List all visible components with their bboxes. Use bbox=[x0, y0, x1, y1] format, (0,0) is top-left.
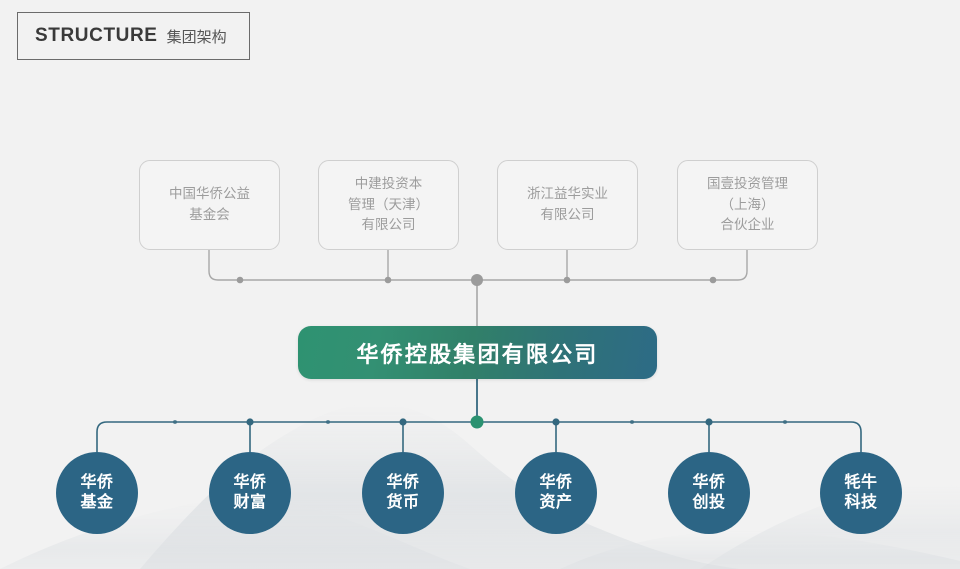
bottom-node-3[interactable]: 华侨 货币 bbox=[362, 452, 444, 534]
bottom-node-4[interactable]: 华侨 资产 bbox=[515, 452, 597, 534]
bottom-branch-dot-2 bbox=[246, 418, 253, 425]
top-branch-dot-3 bbox=[564, 277, 571, 284]
bottom-node-2[interactable]: 华侨 财富 bbox=[209, 452, 291, 534]
top-branch-dot-2 bbox=[385, 277, 392, 284]
bottom-branch-dot-3 bbox=[399, 418, 406, 425]
top-node-2[interactable]: 中建投资本 管理（天津） 有限公司 bbox=[318, 160, 459, 250]
center-node-label: 华侨控股集团有限公司 bbox=[356, 337, 598, 369]
bottom-mid-dot-3 bbox=[630, 420, 634, 424]
top-branch-dot-1 bbox=[237, 277, 244, 284]
section-title-en: STRUCTURE bbox=[35, 25, 158, 47]
bottom-node-label: 华侨 货币 bbox=[386, 473, 419, 514]
bottom-connector-group bbox=[97, 379, 861, 452]
section-header: STRUCTURE 集团架构 bbox=[17, 12, 250, 60]
top-node-label: 中国华侨公益 基金会 bbox=[169, 184, 250, 226]
bottom-node-label: 华侨 资产 bbox=[539, 473, 572, 514]
bottom-branch-dot-4 bbox=[552, 418, 559, 425]
bottom-node-1[interactable]: 华侨 基金 bbox=[56, 452, 138, 534]
bottom-node-label: 华侨 创投 bbox=[692, 473, 725, 514]
mountain-watermark bbox=[0, 379, 960, 569]
top-hub-dot bbox=[471, 274, 483, 286]
center-node-group-company[interactable]: 华侨控股集团有限公司 bbox=[298, 326, 657, 379]
top-branch-dot-4 bbox=[710, 277, 717, 284]
top-connector-group bbox=[209, 250, 747, 326]
org-chart-canvas: STRUCTURE 集团架构 中国华侨公益 基金会中建投资本 管理（天津） 有限… bbox=[0, 0, 960, 569]
bottom-mid-dot-a bbox=[326, 420, 330, 424]
bottom-mid-dot-1 bbox=[173, 420, 177, 424]
top-node-label: 国壹投资管理 （上海） 合伙企业 bbox=[707, 174, 788, 237]
section-title-cn: 集团架构 bbox=[167, 26, 227, 47]
top-node-label: 浙江益华实业 有限公司 bbox=[527, 184, 608, 226]
bottom-node-label: 牦牛 科技 bbox=[844, 473, 877, 514]
top-node-3[interactable]: 浙江益华实业 有限公司 bbox=[497, 160, 638, 250]
top-node-1[interactable]: 中国华侨公益 基金会 bbox=[139, 160, 280, 250]
connector-lines bbox=[0, 0, 960, 569]
bottom-branch-dot-5 bbox=[705, 418, 712, 425]
bottom-mid-dot-4 bbox=[783, 420, 787, 424]
bottom-node-label: 华侨 基金 bbox=[80, 473, 113, 514]
bottom-node-5[interactable]: 华侨 创投 bbox=[668, 452, 750, 534]
top-bus-path bbox=[209, 250, 747, 280]
bottom-node-6[interactable]: 牦牛 科技 bbox=[820, 452, 902, 534]
top-node-4[interactable]: 国壹投资管理 （上海） 合伙企业 bbox=[677, 160, 818, 250]
bottom-node-label: 华侨 财富 bbox=[233, 473, 266, 514]
top-node-label: 中建投资本 管理（天津） 有限公司 bbox=[348, 174, 429, 237]
bottom-hub-dot bbox=[471, 416, 484, 429]
bottom-bus-path bbox=[97, 422, 861, 452]
